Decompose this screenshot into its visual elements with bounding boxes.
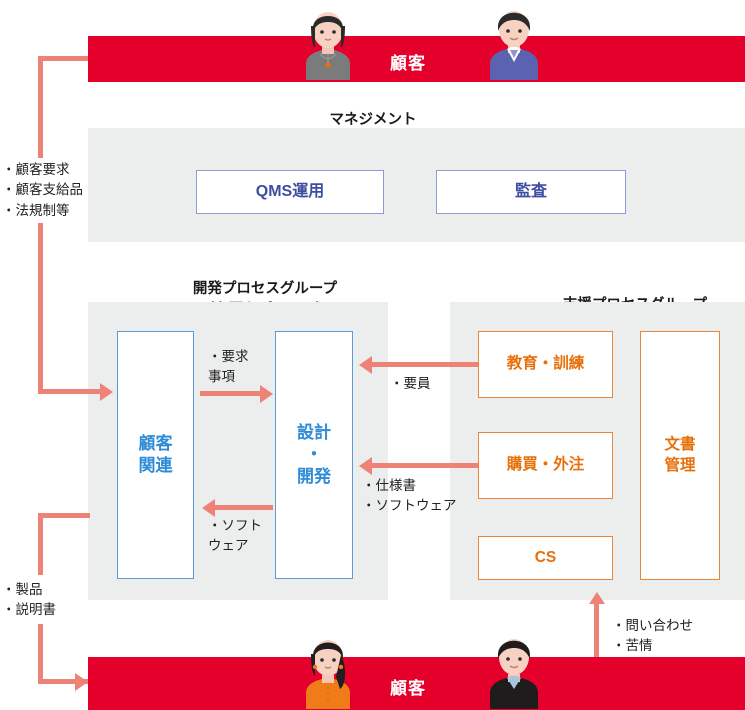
arrow-requirements-head [260,385,273,403]
arrow-software-line [215,505,273,510]
output-flow-vline-lower [38,624,43,684]
flow-label-inquiries: ・問い合わせ ・苦情 [612,616,693,657]
avatar-woman-gray [296,2,360,82]
flow-label-spec-software: ・仕様書 ・ソフトウェア [362,476,457,517]
process-box-qms-operation[interactable]: QMS運用 [196,170,384,214]
output-flow-arrow-head [75,673,88,691]
flow-label-customer-inputs: ・顧客要求 ・顧客支給品 ・法規制等 [2,158,83,223]
process-box-education-training[interactable]: 教育・訓練 [478,331,613,398]
customer-bottom-label: 顧客 [390,674,426,699]
arrow-requirements-line [200,391,260,396]
avatar-man-dark [482,625,546,710]
flow-label-requirements: ・要求 事項 [208,347,249,388]
management-title-line1: マネジメント [330,112,417,128]
flow-label-customer-outputs: ・製品 ・説明書 [2,578,56,623]
arrow-personnel-line [372,362,478,367]
flow-label-software: ・ソフト ウェア [208,516,262,557]
process-box-audit[interactable]: 監査 [436,170,626,214]
arrow-spec-line [372,463,478,468]
avatar-woman-orange [296,627,360,710]
process-box-purchasing-outsourcing[interactable]: 購買・外注 [478,432,613,499]
arrow-personnel-head [359,356,372,374]
process-box-customer-related[interactable]: 顧客 関連 [117,331,194,579]
arrow-software-head [202,499,215,517]
arrow-spec-head [359,457,372,475]
development-title-line1: 開発プロセスグループ [193,281,337,297]
arrow-inquiries-line [594,602,599,657]
management-group-panel [88,128,745,242]
customer-top-label: 顧客 [390,49,426,74]
flow-label-personnel: ・要員 [390,374,431,394]
input-flow-hline-top [38,56,88,61]
input-flow-hline-bottom [38,389,100,394]
process-box-cs[interactable]: CS [478,536,613,580]
output-flow-hline-upper [38,513,90,518]
process-box-document-control[interactable]: 文書 管理 [640,331,720,580]
process-box-design-development[interactable]: 設計 ・ 開発 [275,331,353,579]
avatar-man-blue-suit [482,0,546,82]
input-flow-arrow-head [100,383,113,401]
arrow-inquiries-head [589,592,605,604]
output-flow-vline-upper [38,513,43,575]
input-flow-vline [38,56,43,392]
